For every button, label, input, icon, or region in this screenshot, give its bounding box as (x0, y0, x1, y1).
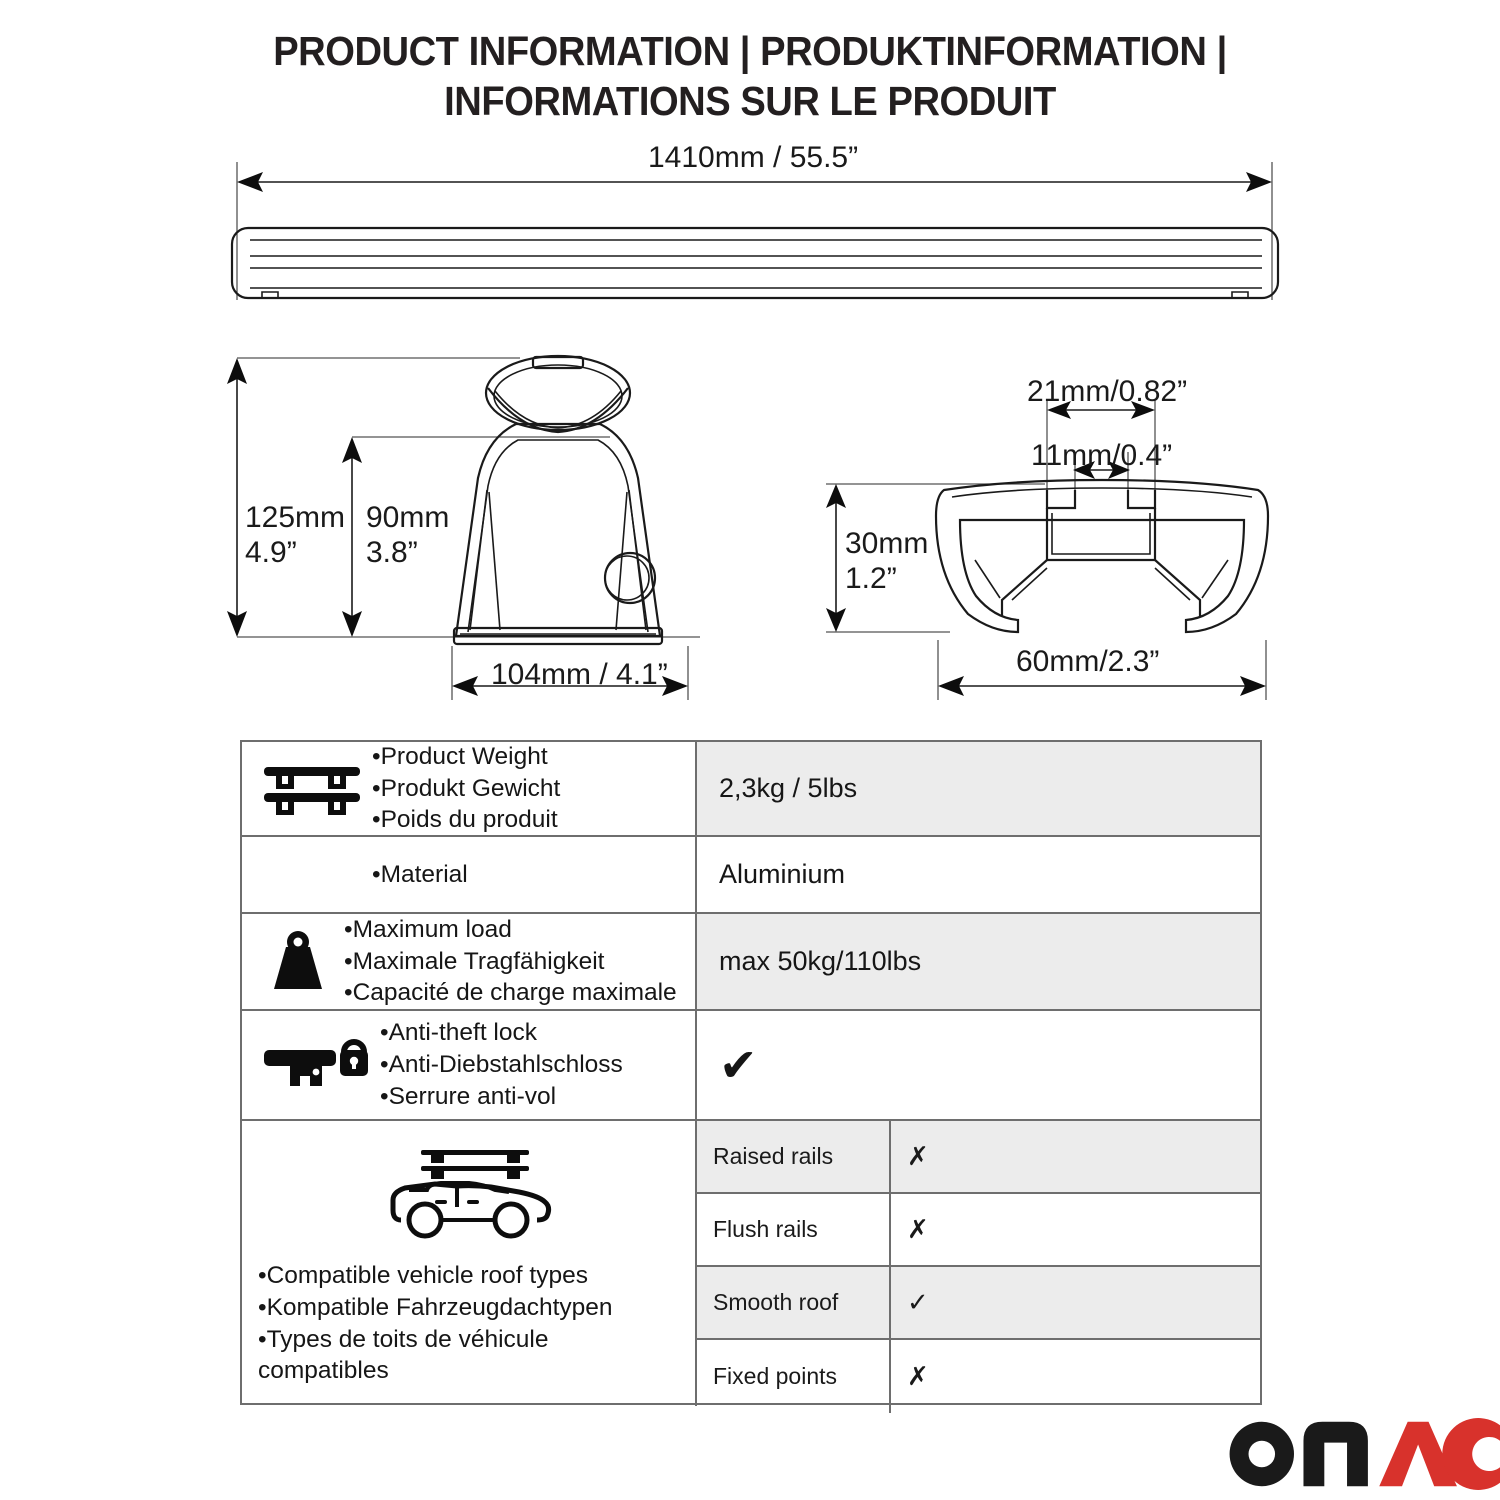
row-label-cell: •Anti-theft lock •Anti-Diebstahlschloss … (242, 1011, 697, 1119)
label-line: •Produkt Gewicht (372, 773, 560, 805)
label-line: •Kompatible Fahrzeugdachtypen (258, 1292, 613, 1324)
max-load-value: max 50kg/110lbs (719, 946, 921, 977)
row-label-cell: •Material (242, 837, 697, 912)
roof-types-matrix: Raised rails ✗ Flush rails ✗ Smooth roof… (697, 1121, 1260, 1406)
bar-length-label: 1410mm / 55.5” (648, 140, 858, 175)
roof-types-labels: •Compatible vehicle roof types •Kompatib… (258, 1260, 613, 1387)
table-row: •Anti-theft lock •Anti-Diebstahlschloss … (242, 1011, 1260, 1121)
label-line: •Material (372, 859, 468, 891)
label-line: •Capacité de charge maximale (344, 977, 677, 1009)
label-line: compatibles (258, 1355, 613, 1387)
label-line: •Maximale Tragfähigkeit (344, 946, 677, 978)
roof-types-label-cell: •Compatible vehicle roof types •Kompatib… (242, 1121, 697, 1406)
roof-type-row: Flush rails ✗ (697, 1194, 1260, 1267)
label-line: •Anti-Diebstahlschloss (380, 1049, 623, 1081)
row-labels: •Material (372, 859, 468, 891)
roof-type-row: Smooth roof ✓ (697, 1267, 1260, 1340)
product-weight-value: 2,3kg / 5lbs (719, 773, 857, 804)
omac-logo (1222, 1418, 1500, 1490)
profile-width-label: 60mm/2.3” (1016, 644, 1159, 679)
row-value-cell: Aluminium (697, 837, 1260, 912)
row-value-cell: ✔ (697, 1011, 1260, 1119)
crossbar-elevation-drawing (232, 162, 1278, 300)
roof-type-mark: ✓ (891, 1267, 1260, 1338)
row-label-cell: •Product Weight •Produkt Gewicht •Poids … (242, 742, 697, 835)
row-labels: •Product Weight •Produkt Gewicht •Poids … (372, 741, 560, 837)
roof-types-section: •Compatible vehicle roof types •Kompatib… (242, 1121, 1260, 1406)
roof-type-row: Fixed points ✗ (697, 1340, 1260, 1413)
slot-inner-label: 11mm/0.4” (1031, 438, 1172, 473)
roof-type-mark: ✗ (891, 1121, 1260, 1192)
row-value-cell: max 50kg/110lbs (697, 914, 1260, 1009)
lock-bar-icon (252, 1034, 380, 1096)
roof-type-name: Fixed points (697, 1340, 891, 1413)
foot-width-label: 104mm / 4.1” (491, 657, 668, 692)
table-row: •Product Weight •Produkt Gewicht •Poids … (242, 742, 1260, 837)
logo-letter-m (1303, 1422, 1367, 1486)
label-line: •Anti-theft lock (380, 1017, 623, 1049)
product-information-sheet: PRODUCT INFORMATION | PRODUKTINFORMATION… (0, 0, 1500, 1500)
row-labels: •Anti-theft lock •Anti-Diebstahlschloss … (380, 1017, 623, 1113)
roof-type-name: Smooth roof (697, 1267, 891, 1338)
foot-height-total-label: 125mm 4.9” (245, 500, 345, 571)
roof-bars-icon (252, 761, 372, 817)
specification-table: •Product Weight •Produkt Gewicht •Poids … (240, 740, 1262, 1405)
profile-height-label: 30mm 1.2” (845, 526, 928, 597)
foot-height-inner-label: 90mm 3.8” (366, 500, 449, 571)
row-labels: •Maximum load •Maximale Tragfähigkeit •C… (344, 914, 677, 1010)
roof-type-row: Raised rails ✗ (697, 1121, 1260, 1194)
weight-icon (252, 931, 344, 993)
slot-outer-label: 21mm/0.82” (1027, 374, 1187, 409)
table-row: •Maximum load •Maximale Tragfähigkeit •C… (242, 914, 1260, 1011)
roof-type-name: Raised rails (697, 1121, 891, 1192)
label-line: •Compatible vehicle roof types (258, 1260, 613, 1292)
roof-type-name: Flush rails (697, 1194, 891, 1265)
label-line: •Product Weight (372, 741, 560, 773)
material-value: Aluminium (719, 859, 845, 890)
car-with-bars-icon (258, 1140, 685, 1246)
table-row: •Material Aluminium (242, 837, 1260, 914)
row-value-cell: 2,3kg / 5lbs (697, 742, 1260, 835)
label-line: •Serrure anti-vol (380, 1081, 623, 1113)
anti-theft-check: ✔ (719, 1042, 758, 1088)
label-line: •Poids du produit (372, 804, 560, 836)
roof-type-mark: ✗ (891, 1340, 1260, 1413)
label-line: •Maximum load (344, 914, 677, 946)
row-label-cell: •Maximum load •Maximale Tragfähigkeit •C… (242, 914, 697, 1009)
label-line: •Types de toits de véhicule (258, 1324, 613, 1356)
roof-type-mark: ✗ (891, 1194, 1260, 1265)
